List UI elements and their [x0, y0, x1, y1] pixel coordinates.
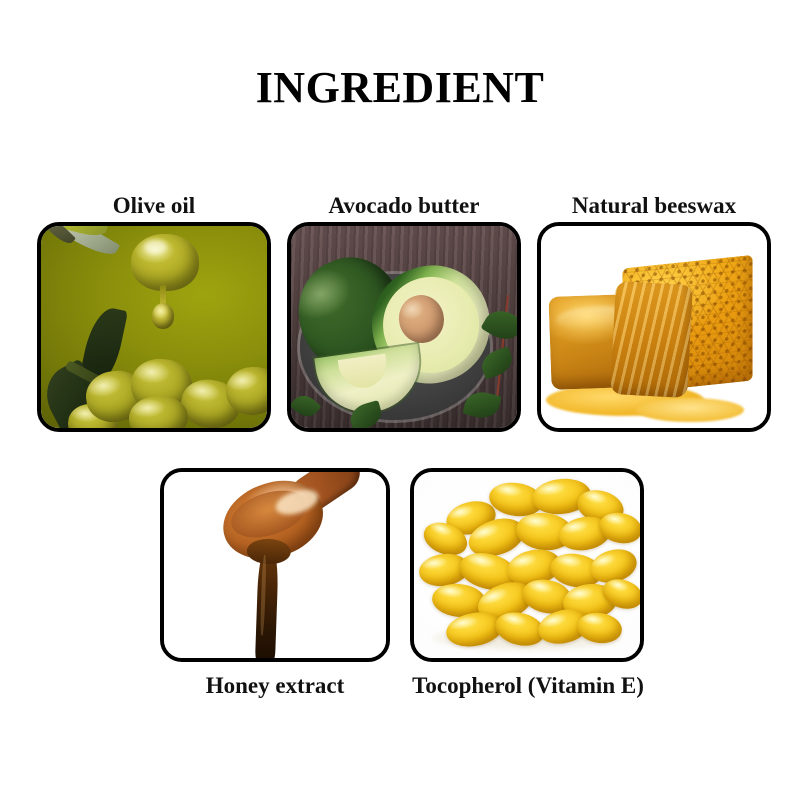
- ingredient-card-olive-oil: [37, 222, 271, 432]
- ingredient-label-natural-beeswax: Natural beeswax: [537, 194, 771, 217]
- ingredient-label-olive-oil: Olive oil: [37, 194, 271, 217]
- avocado-butter-image: [291, 226, 517, 428]
- ingredient-label-avocado-butter: Avocado butter: [287, 194, 521, 217]
- olive-cluster: [41, 226, 267, 428]
- honeycomb-block-middle: [610, 281, 693, 398]
- tocopherol-image: [414, 472, 640, 658]
- page-title: INGREDIENT: [0, 66, 800, 110]
- ingredient-card-honey-extract: [160, 468, 390, 662]
- ingredient-card-avocado-butter: [287, 222, 521, 432]
- ingredient-poster: INGREDIENT Olive oil Avocado butter Natu…: [0, 0, 800, 800]
- natural-beeswax-image: [541, 226, 767, 428]
- olive-oil-image: [41, 226, 267, 428]
- honey-puddle-front: [636, 398, 744, 422]
- ingredient-label-tocopherol: Tocopherol (Vitamin E): [383, 674, 673, 697]
- ingredient-card-tocopherol: [410, 468, 644, 662]
- honey-extract-image: [164, 472, 386, 658]
- honeycomb-ridges: [610, 281, 693, 398]
- ingredient-label-honey-extract: Honey extract: [160, 674, 390, 697]
- ingredient-card-natural-beeswax: [537, 222, 771, 432]
